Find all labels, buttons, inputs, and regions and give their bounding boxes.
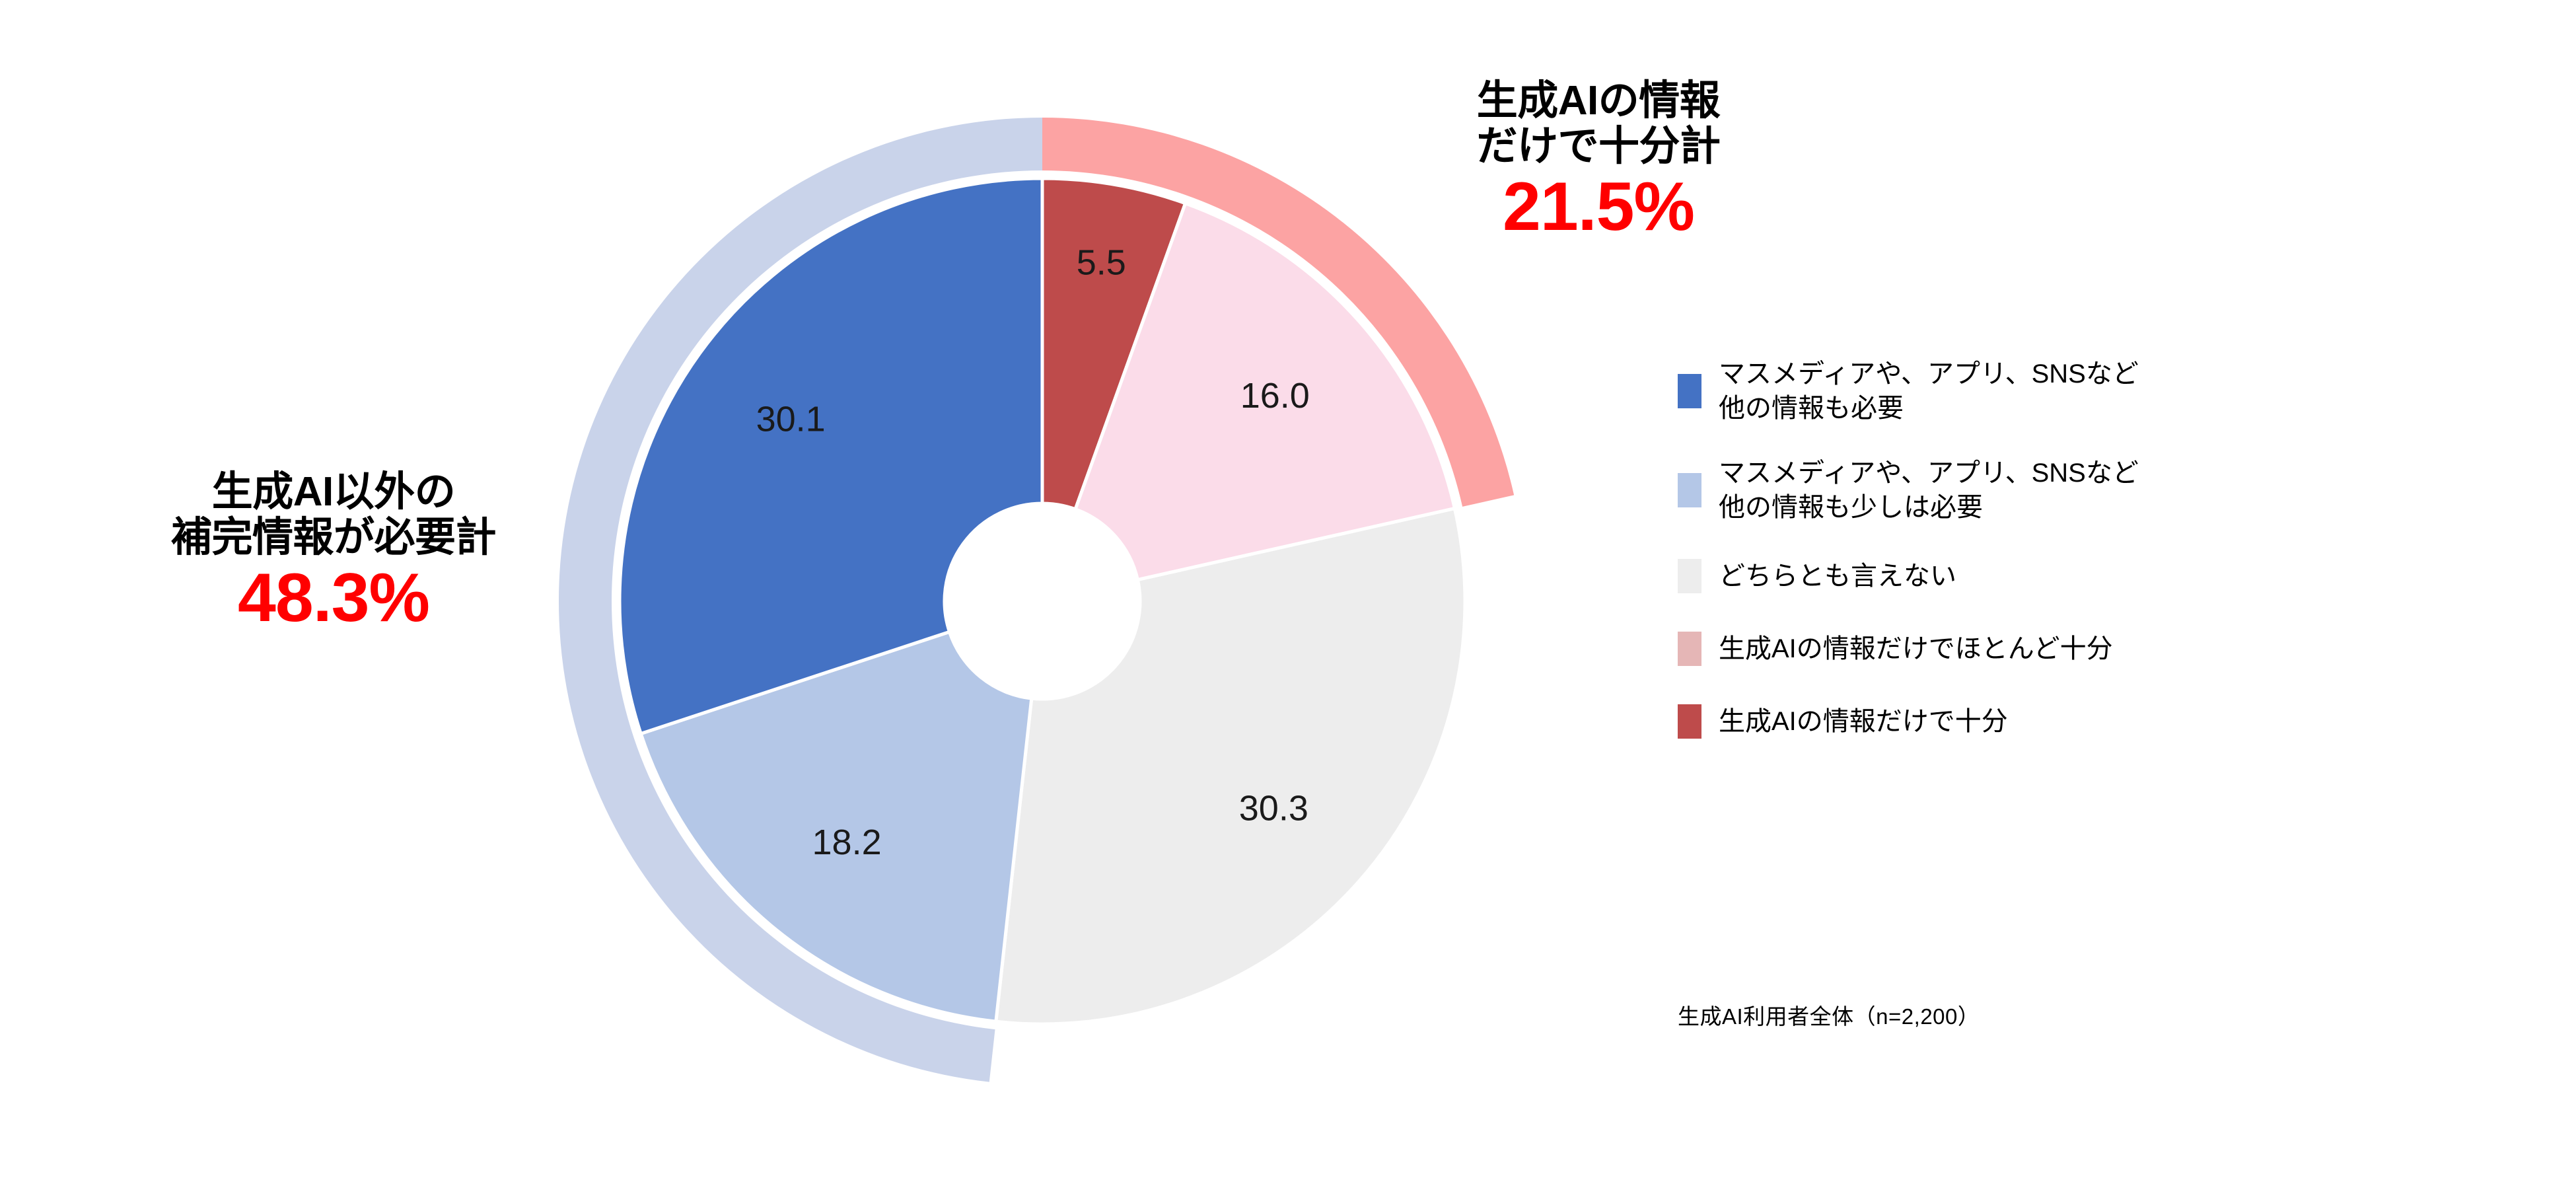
legend-item[interactable]: マスメディアや、アプリ、SNSなど 他の情報も必要 <box>1678 357 2530 425</box>
legend-swatch-icon <box>1678 559 1701 593</box>
slice-value-label: 5.5 <box>1077 243 1126 283</box>
callout-left-percent: 48.3% <box>73 561 594 635</box>
legend-item[interactable]: 生成AIの情報だけで十分 <box>1678 700 2530 743</box>
callout-right: 生成AIの情報 だけで十分計 21.5% <box>1394 78 1803 244</box>
donut-slice[interactable] <box>996 509 1465 1024</box>
legend-swatch-icon <box>1678 632 1701 666</box>
legend-item-label: 生成AIの情報だけで十分 <box>1719 704 2008 739</box>
chart-page: 5.516.030.318.230.1 生成AIの情報 だけで十分計 21.5%… <box>0 0 2576 1178</box>
sample-size-note: 生成AI利用者全体（n=2,200） <box>1678 999 1980 1031</box>
legend-swatch-icon <box>1678 473 1701 507</box>
callout-right-title: 生成AIの情報 だけで十分計 <box>1394 78 1803 170</box>
legend-item-label: マスメディアや、アプリ、SNSなど 他の情報も必要 <box>1719 357 2139 425</box>
legend-item-label: マスメディアや、アプリ、SNSなど 他の情報も少しは必要 <box>1719 456 2139 525</box>
slice-value-label: 16.0 <box>1240 376 1310 416</box>
legend-swatch-icon <box>1678 374 1701 408</box>
legend-item-label: 生成AIの情報だけでほとんど十分 <box>1719 632 2113 666</box>
inner-ring-group <box>620 178 1465 1024</box>
slice-value-label: 18.2 <box>812 823 882 862</box>
slice-value-label: 30.1 <box>756 400 826 439</box>
callout-left: 生成AI以外の 補完情報が必要計 48.3% <box>73 469 594 635</box>
legend-item[interactable]: どちらとも言えない <box>1678 555 2530 597</box>
legend-item[interactable]: マスメディアや、アプリ、SNSなど 他の情報も少しは必要 <box>1678 456 2530 525</box>
chart-legend: マスメディアや、アプリ、SNSなど 他の情報も必要マスメディアや、アプリ、SNS… <box>1678 357 2530 773</box>
slice-value-label: 30.3 <box>1239 788 1308 828</box>
donut-slice[interactable] <box>620 178 1042 733</box>
legend-item[interactable]: 生成AIの情報だけでほとんど十分 <box>1678 628 2530 670</box>
callout-right-percent: 21.5% <box>1394 170 1803 244</box>
legend-item-label: どちらとも言えない <box>1719 559 1956 593</box>
legend-swatch-icon <box>1678 704 1701 739</box>
callout-left-title: 生成AI以外の 補完情報が必要計 <box>73 469 594 561</box>
